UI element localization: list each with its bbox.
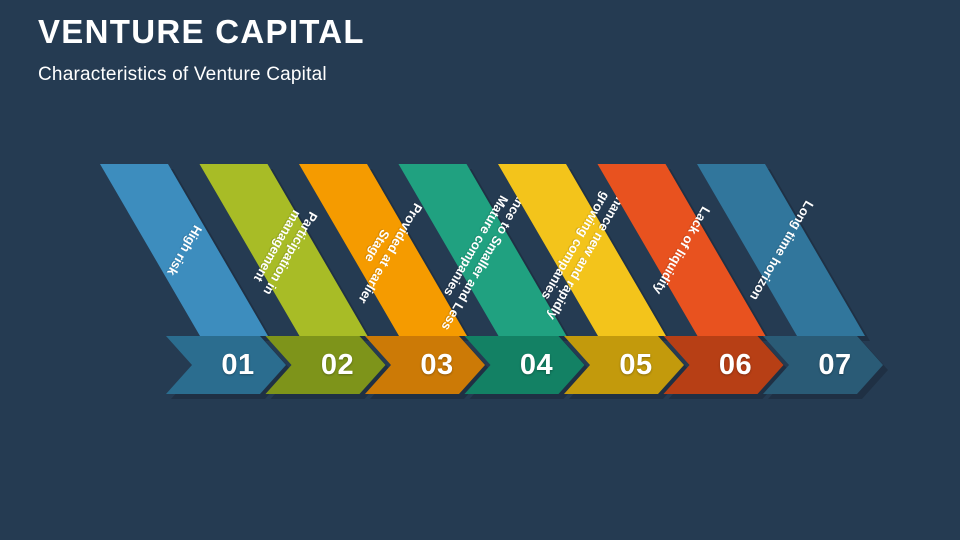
arrow-number-tag-07[interactable] — [0, 0, 960, 540]
arrow-item-07[interactable]: Long time horizon07 — [0, 0, 960, 540]
venture-capital-arrow-diagram: High risk01Participation in management02… — [0, 0, 960, 540]
slide-canvas: VENTURE CAPITAL Characteristics of Ventu… — [0, 0, 960, 540]
